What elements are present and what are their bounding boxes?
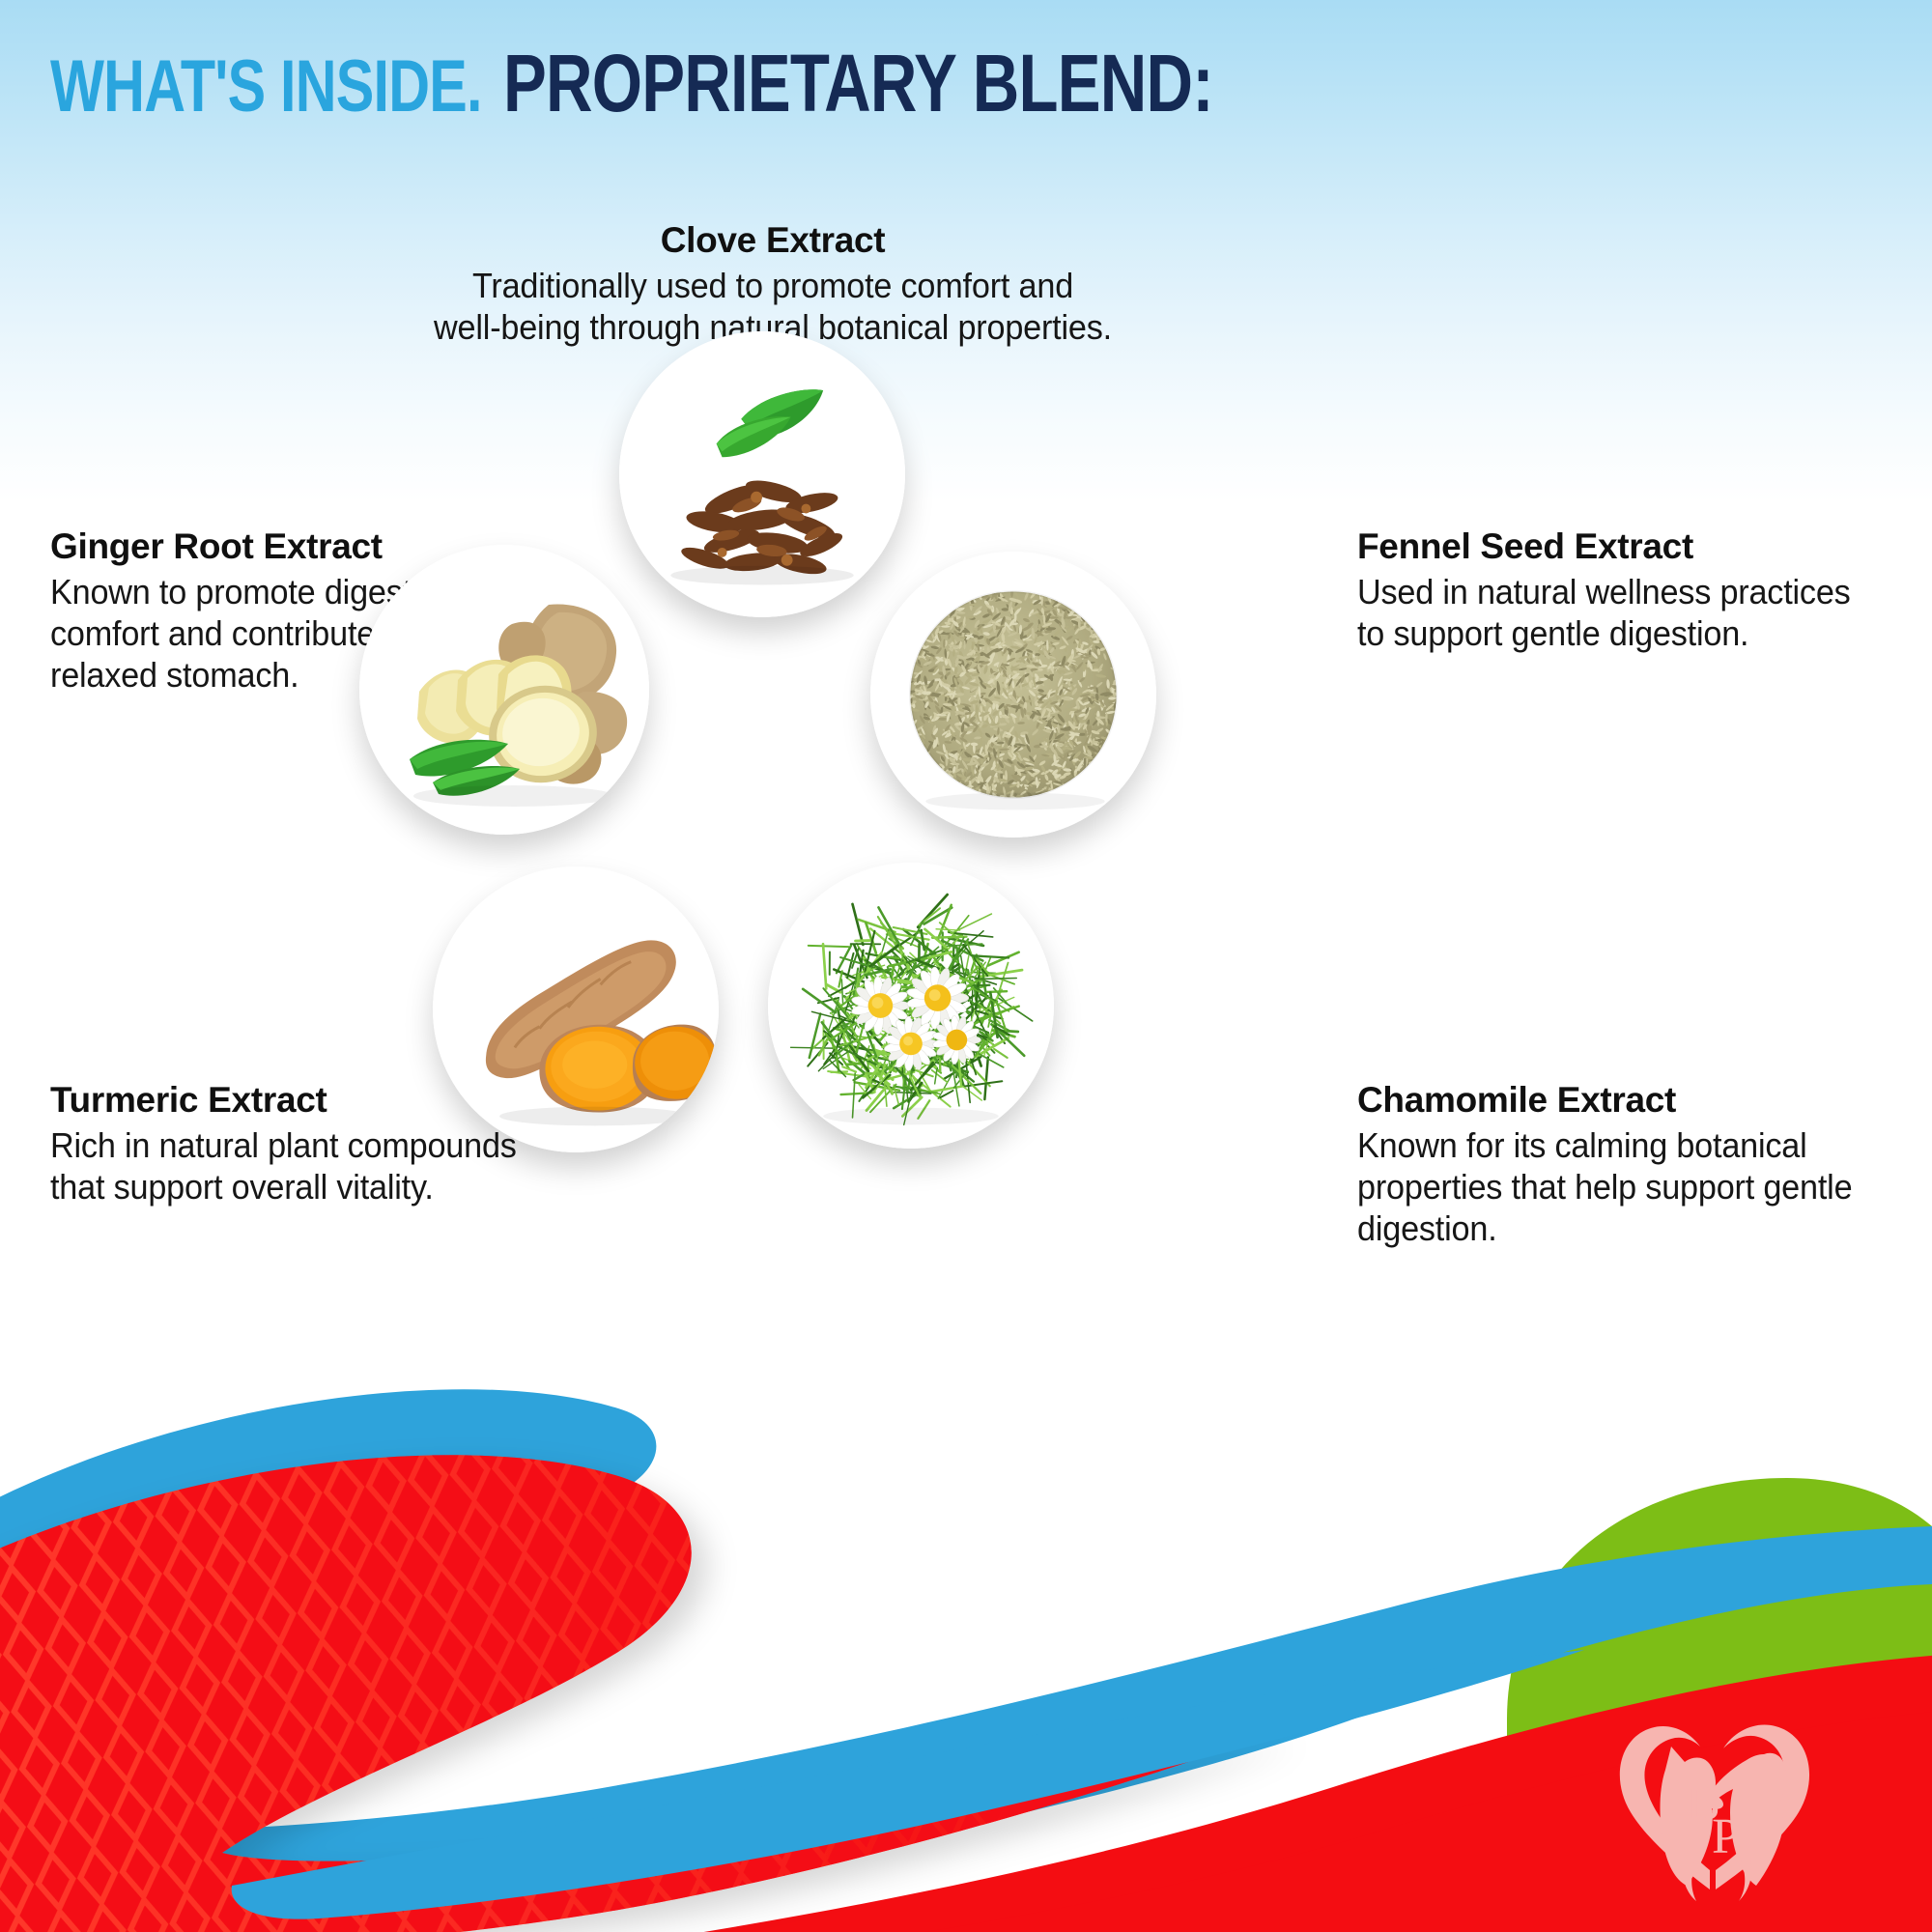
chamomile-desc-line-2: properties that help support gentle: [1357, 1167, 1852, 1207]
ingredient-desc-fennel: Used in natural wellness practices to su…: [1357, 571, 1889, 654]
title-whats-inside: WHAT'S INSIDE.: [50, 44, 482, 128]
ginger-root-photo: [359, 545, 649, 835]
fennel-desc-line-2: to support gentle digestion.: [1357, 613, 1748, 653]
turmeric-root-photo: [433, 867, 719, 1152]
chamomile-flowers-photo: [768, 863, 1054, 1149]
ingredient-block-fennel: Fennel Seed Extract Used in natural well…: [1357, 526, 1918, 654]
turmeric-desc-line-2: that support overall vitality.: [50, 1167, 434, 1207]
ingredient-block-clove: Clove Extract Traditionally used to prom…: [386, 220, 1159, 348]
chamomile-desc-line-3: digestion.: [1357, 1208, 1497, 1248]
clove-buds-photo: [619, 331, 905, 617]
ingredient-title-chamomile: Chamomile Extract: [1357, 1080, 1922, 1121]
logo-monogram-p: P: [1712, 1809, 1740, 1864]
fennel-desc-line-1: Used in natural wellness practices: [1357, 572, 1851, 611]
turmeric-desc-line-1: Rich in natural plant compounds: [50, 1125, 517, 1165]
clove-desc-line-1: Traditionally used to promote comfort an…: [472, 266, 1073, 305]
ingredient-desc-turmeric: Rich in natural plant compounds that sup…: [50, 1124, 582, 1207]
title-proprietary-blend: PROPRIETARY BLEND:: [503, 37, 1213, 130]
page-title: WHAT'S INSIDE. PROPRIETARY BLEND:: [50, 37, 1390, 130]
fennel-seeds-photo: [870, 552, 1156, 838]
ingredient-title-fennel: Fennel Seed Extract: [1357, 526, 1918, 567]
bp-pet-heart-logo: B P: [1594, 1700, 1835, 1908]
ingredient-block-chamomile: Chamomile Extract Known for its calming …: [1357, 1080, 1922, 1250]
ingredient-title-clove: Clove Extract: [386, 220, 1159, 261]
chamomile-desc-line-1: Known for its calming botanical: [1357, 1125, 1807, 1165]
ingredient-desc-chamomile: Known for its calming botanical properti…: [1357, 1124, 1894, 1250]
infographic-canvas: WHAT'S INSIDE. PROPRIETARY BLEND: Clove …: [0, 0, 1932, 1932]
ginger-desc-line-3: relaxed stomach.: [50, 655, 298, 695]
